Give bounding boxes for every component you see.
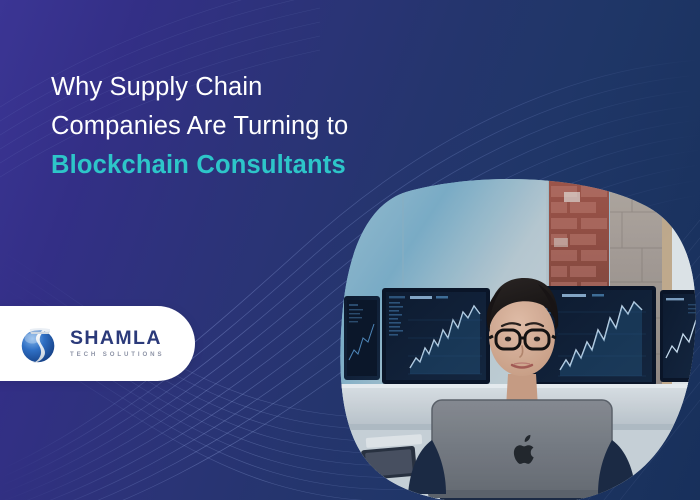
headline-line-1: Why Supply Chain	[51, 68, 421, 107]
logo-tagline: TECH SOLUTIONS	[70, 352, 164, 358]
headline-line-2: Companies Are Turning to	[51, 107, 421, 146]
headline-line-3-accent: Blockchain Consultants	[51, 146, 421, 185]
blog-banner: Why Supply Chain Companies Are Turning t…	[0, 0, 700, 500]
logo-wordmark: SHAMLA TECH SOLUTIONS	[70, 329, 164, 359]
hero-photo	[336, 178, 700, 500]
brand-logo-card[interactable]: SHAMLA TECH SOLUTIONS	[0, 306, 195, 381]
headline-block: Why Supply Chain Companies Are Turning t…	[51, 68, 421, 185]
logo-name: SHAMLA	[70, 329, 164, 349]
shamla-sphere-icon	[16, 321, 62, 367]
logo-inner: SHAMLA TECH SOLUTIONS	[16, 321, 164, 367]
